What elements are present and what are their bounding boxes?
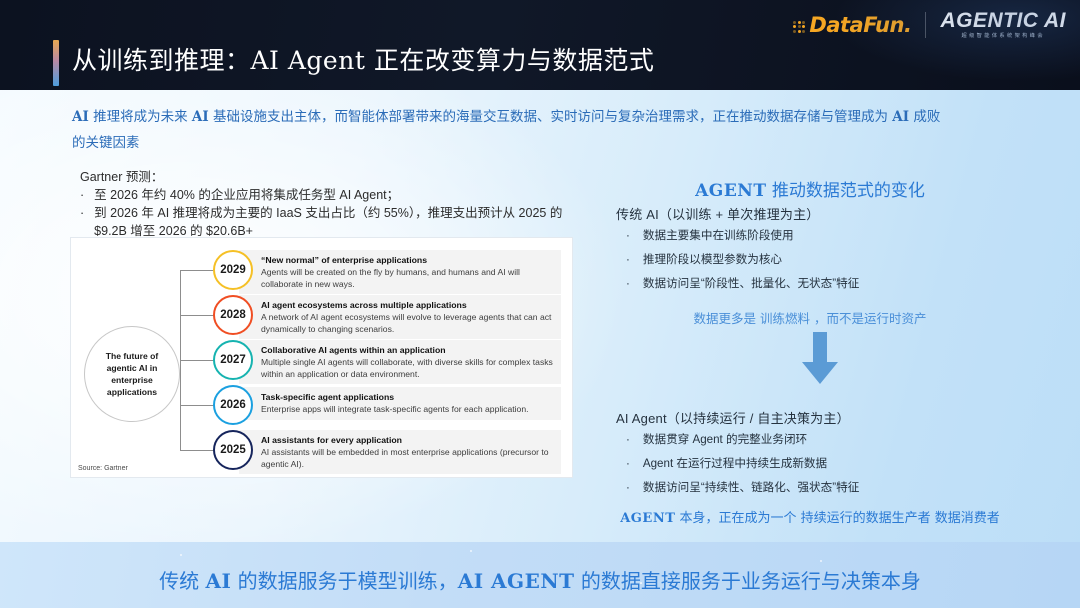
intro-kw-3: AI — [892, 109, 909, 125]
bullet-glyph: · — [80, 186, 84, 204]
list-item: · 到 2026 年 AI 推理将成为主要的 IaaS 支出占比（约 55%），… — [80, 204, 580, 240]
intro-text-d: 的关键因素 — [72, 135, 140, 151]
agent-summary-note: AGENT 本身，正在成为一个 持续运行的数据生产者 数据消费者 — [590, 507, 1030, 526]
intro-text-c: 成败 — [909, 109, 940, 125]
timeline-card-2028: AI agent ecosystems across multiple appl… — [239, 295, 561, 339]
timeline-year-2025: 2025 — [213, 430, 253, 470]
slide-header: 从训练到推理：AI Agent 正在改变算力与数据范式 DataFun. AGE… — [0, 0, 1080, 90]
timeline-year-2028: 2028 — [213, 295, 253, 335]
agent-note-keyword: AGENT — [620, 511, 675, 526]
timeline-card-title: “New normal” of enterprise applications — [261, 254, 555, 266]
gartner-timeline-figure: The future of agentic AI in enterprise a… — [70, 237, 573, 478]
timeline-card-2029: “New normal” of enterprise applications … — [239, 250, 561, 294]
logo-divider — [925, 12, 926, 38]
agent-note-rest: 本身，正在成为一个 持续运行的数据生产者 数据消费者 — [675, 511, 999, 526]
timeline-row: “New normal” of enterprise applications … — [71, 250, 572, 294]
agentic-ai-logo: AGENTIC AI 超级智能体系统架构峰会 — [940, 10, 1066, 39]
list-item: · 至 2026 年约 40% 的企业应用将集成任务型 AI Agent； — [80, 186, 580, 204]
timeline-year-2027: 2027 — [213, 340, 253, 380]
bottom-text-post: 的数据直接服务于业务运行与决策本身 — [575, 569, 921, 593]
intro-text-a: 推理将成为未来 — [89, 109, 192, 125]
list-item: · 数据访问呈“阶段性、批量化、无状态”特征 — [626, 272, 1006, 296]
bottom-banner-text: 传统 AI 的数据服务于模型训练，AI AGENT 的数据直接服务于业务运行与决… — [0, 565, 1080, 594]
logo-group: DataFun. AGENTIC AI 超级智能体系统架构峰会 — [793, 8, 1066, 42]
agentic-ai-title: AGENTIC AI — [940, 10, 1066, 31]
timeline-card-2027: Collaborative AI agents within an applic… — [239, 340, 561, 384]
bullet-glyph: · — [626, 452, 630, 476]
figure-source-note: Source: Gartner — [78, 465, 128, 472]
ai-agent-bullets: · 数据贯穿 Agent 的完整业务闭环 · Agent 在运行过程中持续生成新… — [626, 428, 1006, 500]
ai-agent-heading: AI Agent（以持续运行 / 自主决策为主） — [616, 408, 850, 427]
bullet-glyph: · — [626, 476, 630, 500]
list-item: · Agent 在运行过程中持续生成新数据 — [626, 452, 1006, 476]
right-title-rest: 推动数据范式的变化 — [766, 181, 924, 201]
intro-paragraph: AI 推理将成为未来 AI 基础设施支出主体，而智能体部署带来的海量交互数据、实… — [72, 104, 984, 156]
agentic-ai-subtitle: 超级智能体系统架构峰会 — [940, 34, 1066, 39]
bullet-glyph: · — [626, 272, 630, 296]
right-section-title: AGENT 推动数据范式的变化 — [600, 176, 1020, 201]
timeline-card-2025: AI assistants for every application AI a… — [239, 430, 561, 474]
list-item: · 数据主要集中在训练阶段使用 — [626, 224, 1006, 248]
traditional-bullet-1: 数据主要集中在训练阶段使用 — [643, 224, 794, 248]
bottom-keyword-1: AI — [205, 569, 231, 593]
timeline-card-title: AI assistants for every application — [261, 434, 555, 446]
right-title-keyword: AGENT — [695, 181, 766, 201]
bullet-glyph: · — [626, 248, 630, 272]
gartner-bullet-list: · 至 2026 年约 40% 的企业应用将集成任务型 AI Agent； · … — [80, 186, 580, 240]
timeline-row: Task-specific agent applications Enterpr… — [71, 385, 572, 429]
list-item: · 数据访问呈“持续性、链路化、强状态”特征 — [626, 476, 1006, 500]
bullet-glyph: · — [80, 204, 84, 222]
timeline-card-title: Task-specific agent applications — [261, 391, 555, 403]
traditional-ai-heading: 传统 AI（以训练 + 单次推理为主） — [616, 204, 820, 223]
slide-root: 从训练到推理：AI Agent 正在改变算力与数据范式 DataFun. AGE… — [0, 0, 1080, 608]
timeline-row: AI agent ecosystems across multiple appl… — [71, 295, 572, 339]
traditional-ai-bullets: · 数据主要集中在训练阶段使用 · 推理阶段以模型参数为核心 · 数据访问呈“阶… — [626, 224, 1006, 296]
title-accent-bar — [53, 40, 59, 86]
intro-kw-2: AI — [192, 109, 209, 125]
timeline-year-2029: 2029 — [213, 250, 253, 290]
timeline-card-desc: AI assistants will be embedded in most e… — [261, 447, 555, 470]
gartner-heading: Gartner 预测： — [80, 168, 163, 186]
gartner-bullet-2: 到 2026 年 AI 推理将成为主要的 IaaS 支出占比（约 55%），推理… — [94, 204, 580, 240]
agent-bullet-1: 数据贯穿 Agent 的完整业务闭环 — [643, 428, 807, 452]
mid-note-text: 数据更多是 训练燃料 ，而不是运行时资产 — [600, 308, 1020, 327]
timeline-card-desc: Agents will be created on the fly by hum… — [261, 267, 555, 290]
timeline-row: Collaborative AI agents within an applic… — [71, 340, 572, 384]
list-item: · 数据贯穿 Agent 的完整业务闭环 — [626, 428, 1006, 452]
agent-bullet-3: 数据访问呈“持续性、链路化、强状态”特征 — [643, 476, 859, 500]
intro-kw-1: AI — [72, 109, 89, 125]
down-arrow-icon — [800, 332, 840, 384]
bullet-glyph: · — [626, 428, 630, 452]
timeline-card-2026: Task-specific agent applications Enterpr… — [239, 387, 561, 420]
traditional-bullet-2: 推理阶段以模型参数为核心 — [643, 248, 782, 272]
timeline-card-desc: A network of AI agent ecosystems will ev… — [261, 312, 555, 335]
datafun-logo-text: DataFun. — [809, 13, 911, 37]
bottom-text-mid: 的数据服务于模型训练， — [231, 569, 457, 593]
bullet-glyph: · — [626, 224, 630, 248]
timeline-row: AI assistants for every application AI a… — [71, 430, 572, 474]
bottom-text-pre: 传统 — [159, 569, 205, 593]
timeline-card-title: AI agent ecosystems across multiple appl… — [261, 299, 555, 311]
timeline-card-desc: Enterprise apps will integrate task-spec… — [261, 404, 555, 416]
timeline-year-2026: 2026 — [213, 385, 253, 425]
traditional-bullet-3: 数据访问呈“阶段性、批量化、无状态”特征 — [643, 272, 859, 296]
list-item: · 推理阶段以模型参数为核心 — [626, 248, 1006, 272]
page-title: 从训练到推理：AI Agent 正在改变算力与数据范式 — [72, 41, 654, 77]
datafun-dots-icon — [793, 21, 805, 33]
gartner-bullet-1: 至 2026 年约 40% 的企业应用将集成任务型 AI Agent； — [94, 186, 399, 204]
agent-bullet-2: Agent 在运行过程中持续生成新数据 — [643, 452, 827, 476]
timeline-card-title: Collaborative AI agents within an applic… — [261, 344, 555, 356]
datafun-logo: DataFun. — [793, 13, 911, 37]
intro-text-b: 基础设施支出主体，而智能体部署带来的海量交互数据、实时访问与复杂治理需求，正在推… — [209, 109, 893, 125]
timeline-card-desc: Multiple single AI agents will collabora… — [261, 357, 555, 380]
bottom-keyword-2: AI AGENT — [458, 569, 575, 593]
